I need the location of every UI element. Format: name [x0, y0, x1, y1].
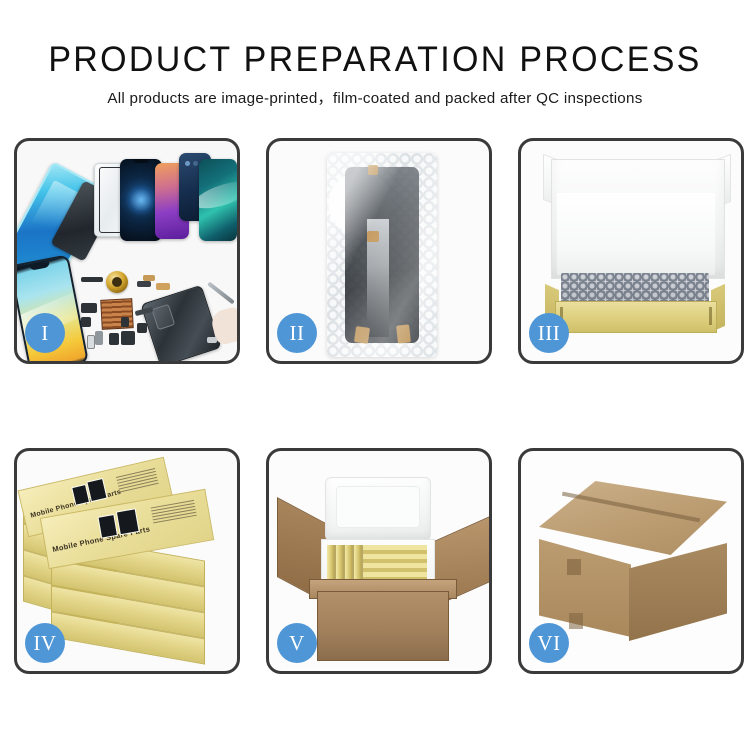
tape-piece [354, 326, 370, 344]
box-spec-lines [116, 468, 159, 495]
tape-piece [396, 324, 411, 343]
step-badge-1: I [25, 313, 65, 353]
small-part [207, 337, 217, 343]
small-part [95, 331, 103, 345]
box-front-panel [555, 301, 717, 333]
product-preparation-infographic: PRODUCT PREPARATION PROCESS All products… [0, 0, 750, 750]
phone-back-cover [140, 285, 221, 364]
process-step-panel-6: VI [518, 448, 744, 674]
step-badge-5: V [277, 623, 317, 663]
sealed-carton-side [629, 543, 727, 641]
small-part [87, 335, 95, 349]
carton-tape-patch [567, 559, 581, 575]
box-spec-lines [151, 500, 197, 525]
small-part [81, 277, 103, 282]
tape-piece [367, 231, 379, 242]
small-part [143, 275, 155, 281]
box-product-photo [97, 514, 118, 539]
carton-tape-patch [569, 613, 583, 629]
small-part [121, 331, 135, 345]
process-step-panel-5: V [266, 448, 492, 674]
step-badge-4: IV [25, 623, 65, 663]
white-foam-sheet [557, 193, 715, 275]
phone-teal-swirl [199, 159, 237, 241]
gray-bubble-wrap-fill [561, 273, 709, 303]
phone-notch-icon [133, 159, 149, 163]
small-part [137, 281, 151, 287]
speaker-ring-part [106, 271, 128, 293]
process-step-panel-2: II [266, 138, 492, 364]
step-badge-6: VI [529, 623, 569, 663]
process-step-panel-4: Mobile Phone Spare Parts Mobile Phone Sp… [14, 448, 240, 674]
header: PRODUCT PREPARATION PROCESS All products… [0, 0, 750, 130]
page-title: PRODUCT PREPARATION PROCESS [11, 41, 739, 79]
page-subtitle: All products are image-printed，film-coat… [0, 89, 750, 108]
process-step-panel-3: III [518, 138, 744, 364]
small-part [81, 303, 97, 313]
tape-piece [368, 165, 378, 175]
box-corner-mark [709, 307, 712, 325]
foam-box-lid [325, 477, 431, 541]
step-badge-3: III [529, 313, 569, 353]
box-product-photo [116, 508, 140, 535]
tweezers-icon [207, 282, 235, 305]
small-part [156, 283, 170, 290]
small-part [121, 317, 129, 327]
small-part [81, 317, 91, 327]
small-part [137, 323, 147, 333]
carton-body [317, 591, 449, 661]
process-step-panel-1: I [14, 138, 240, 364]
process-step-grid: I II [14, 138, 736, 683]
box-product-photo [86, 478, 107, 502]
sealed-carton-front [539, 539, 631, 637]
step-badge-2: II [277, 313, 317, 353]
small-part [109, 333, 119, 345]
